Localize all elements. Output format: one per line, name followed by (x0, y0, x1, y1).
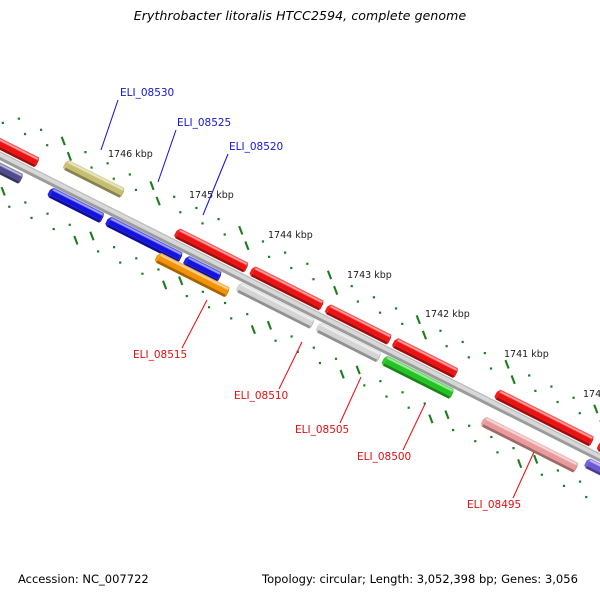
feature-dot-mark (379, 312, 381, 314)
feature-dot-mark (468, 425, 470, 427)
gene-slate-right[interactable] (584, 458, 600, 484)
genome-map-svg[interactable]: 1746 kbp1745 kbp1744 kbp1743 kbp1742 kbp… (0, 0, 600, 600)
feature-dash-mark (445, 410, 448, 418)
feature-dash-mark (423, 331, 426, 339)
feature-dot-mark (291, 335, 293, 337)
feature-dot-mark (135, 189, 137, 191)
feature-dot-mark (439, 330, 441, 332)
feature-dot-mark (446, 345, 448, 347)
feature-dot-mark (69, 224, 71, 226)
axis-tick-label: 1742 kbp (425, 309, 470, 320)
feature-dot-mark (2, 122, 4, 124)
feature-dot-mark (462, 341, 464, 343)
gene-label-leader-line (403, 404, 425, 450)
feature-dot-mark (107, 162, 109, 164)
feature-dot-mark (379, 380, 381, 382)
gene-label-leader-line (101, 100, 118, 150)
genome-diagram-canvas: Erythrobacter litoralis HTCC2594, comple… (0, 0, 600, 600)
feature-dot-mark (363, 384, 365, 386)
feature-dash-mark (157, 197, 160, 205)
feature-dash-mark (2, 187, 5, 195)
feature-dot-mark (357, 300, 359, 302)
feature-dot-mark (113, 246, 115, 248)
feature-dot-mark (401, 323, 403, 325)
gene-label-leader-line (203, 154, 228, 215)
feature-dot-mark (84, 151, 86, 153)
feature-dot-mark (395, 307, 397, 309)
feature-dot-mark (217, 218, 219, 220)
feature-dot-mark (24, 133, 26, 135)
feature-dash-mark (518, 459, 521, 467)
gene-label-leader-line (182, 300, 207, 348)
feature-dash-mark (239, 226, 242, 234)
genome-stats-label: Topology: circular; Length: 3,052,398 bp… (262, 572, 578, 586)
gene-label-text[interactable]: ELI_08520 (229, 141, 283, 153)
gene-label-text[interactable]: ELI_08505 (295, 424, 349, 436)
feature-dash-mark (357, 366, 360, 374)
feature-dot-mark (113, 178, 115, 180)
feature-dash-mark (179, 276, 182, 284)
feature-dot-mark (557, 469, 559, 471)
feature-dash-mark (512, 375, 515, 383)
feature-dot-mark (201, 222, 203, 224)
gene-label-text[interactable]: ELI_08515 (133, 349, 187, 361)
feature-dot-mark (401, 391, 403, 393)
axis-tick-label: 1744 kbp (268, 230, 313, 241)
feature-dot-mark (129, 173, 131, 175)
feature-dot-mark (496, 451, 498, 453)
feature-dot-mark (274, 340, 276, 342)
feature-dot-mark (46, 144, 48, 146)
feature-dot-mark (186, 295, 188, 297)
gene-label-eli_08510[interactable]: ELI_08510 (234, 342, 302, 402)
gene-label-eli_08515[interactable]: ELI_08515 (133, 300, 207, 361)
feature-dash-mark (245, 242, 248, 250)
feature-dash-mark (90, 232, 93, 240)
feature-dot-mark (208, 306, 210, 308)
feature-dot-mark (195, 207, 197, 209)
feature-dot-mark (119, 261, 121, 263)
gene-label-eli_08500[interactable]: ELI_08500 (357, 404, 425, 463)
gene-label-text[interactable]: ELI_08510 (234, 390, 288, 402)
gene-highlight (111, 219, 181, 254)
gene-label-text[interactable]: ELI_08530 (120, 87, 174, 99)
feature-dot-mark (579, 481, 581, 483)
feature-dot-mark (408, 407, 410, 409)
feature-dot-mark (563, 485, 565, 487)
feature-dot-mark (490, 436, 492, 438)
feature-dot-mark (484, 352, 486, 354)
feature-dot-mark (312, 278, 314, 280)
gene-label-text[interactable]: ELI_08500 (357, 451, 411, 463)
feature-dash-mark (334, 286, 337, 294)
gene-label-text[interactable]: ELI_08495 (467, 499, 521, 511)
feature-dot-mark (528, 374, 530, 376)
feature-dot-mark (40, 129, 42, 131)
gene-label-eli_08520[interactable]: ELI_08520 (203, 141, 283, 215)
feature-dot-mark (173, 196, 175, 198)
feature-dot-mark (230, 317, 232, 319)
feature-dot-mark (141, 273, 143, 275)
gene-label-leader-line (340, 377, 361, 423)
axis-tick-label: 1740 kbp (583, 389, 600, 400)
page-title: Erythrobacter litoralis HTCC2594, comple… (0, 8, 600, 23)
feature-dot-mark (246, 313, 248, 315)
feature-dot-mark (202, 291, 204, 293)
feature-dot-mark (224, 302, 226, 304)
gene-highlight (398, 340, 456, 369)
feature-dash-mark (534, 455, 537, 463)
feature-dot-mark (179, 211, 181, 213)
feature-dot-mark (8, 206, 10, 208)
feature-dot-mark (534, 390, 536, 392)
feature-dash-mark (252, 325, 255, 333)
axis-tick-label: 1743 kbp (347, 270, 392, 281)
feature-dot-mark (452, 429, 454, 431)
feature-dot-mark (585, 496, 587, 498)
feature-dot-mark (373, 296, 375, 298)
feature-dash-mark (594, 405, 597, 413)
feature-dash-mark (429, 415, 432, 423)
accession-label: Accession: NC_007722 (18, 572, 149, 586)
feature-dash-mark (74, 236, 77, 244)
feature-dot-mark (313, 347, 315, 349)
feature-dash-mark (341, 370, 344, 378)
feature-dot-mark (335, 358, 337, 360)
gene-label-text[interactable]: ELI_08525 (177, 117, 231, 129)
feature-dot-mark (30, 217, 32, 219)
axis-tick-label: 1746 kbp (108, 149, 153, 160)
feature-dot-mark (53, 228, 55, 230)
feature-dash-mark (417, 315, 420, 323)
feature-dot-mark (268, 256, 270, 258)
feature-dot-mark (556, 401, 558, 403)
feature-dot-mark (284, 252, 286, 254)
feature-dot-mark (46, 213, 48, 215)
feature-dash-mark (505, 360, 508, 368)
feature-dash-mark (68, 152, 71, 160)
feature-dot-mark (512, 447, 514, 449)
feature-dot-mark (351, 285, 353, 287)
gene-label-eli_08495[interactable]: ELI_08495 (467, 452, 534, 511)
feature-dot-mark (90, 166, 92, 168)
feature-dot-mark (97, 250, 99, 252)
feature-dot-mark (290, 267, 292, 269)
feature-dot-mark (18, 118, 20, 120)
axis-tick-label: 1741 kbp (504, 349, 549, 360)
feature-dot-mark (573, 397, 575, 399)
feature-dot-mark (474, 440, 476, 442)
feature-dot-mark (385, 395, 387, 397)
feature-dot-mark (319, 362, 321, 364)
feature-dash-mark (328, 271, 331, 279)
feature-dot-mark (490, 367, 492, 369)
feature-dot-mark (579, 412, 581, 414)
feature-dot-mark (262, 240, 264, 242)
gene-label-leader-line (513, 452, 534, 498)
gene-label-leader-line (158, 130, 176, 182)
feature-dash-mark (268, 321, 271, 329)
gene-label-eli_08505[interactable]: ELI_08505 (295, 377, 361, 436)
feature-dot-mark (550, 386, 552, 388)
gene-label-eli_08530[interactable]: ELI_08530 (101, 87, 174, 150)
feature-dash-mark (150, 181, 153, 189)
feature-dot-mark (541, 474, 543, 476)
gene-label-leader-line (279, 342, 302, 389)
feature-dash-mark (62, 137, 65, 145)
feature-dot-mark (306, 263, 308, 265)
feature-dot-mark (157, 268, 159, 270)
feature-dash-mark (163, 281, 166, 289)
feature-dot-mark (24, 201, 26, 203)
feature-dot-mark (135, 257, 137, 259)
feature-dot-mark (224, 233, 226, 235)
feature-dot-mark (468, 356, 470, 358)
